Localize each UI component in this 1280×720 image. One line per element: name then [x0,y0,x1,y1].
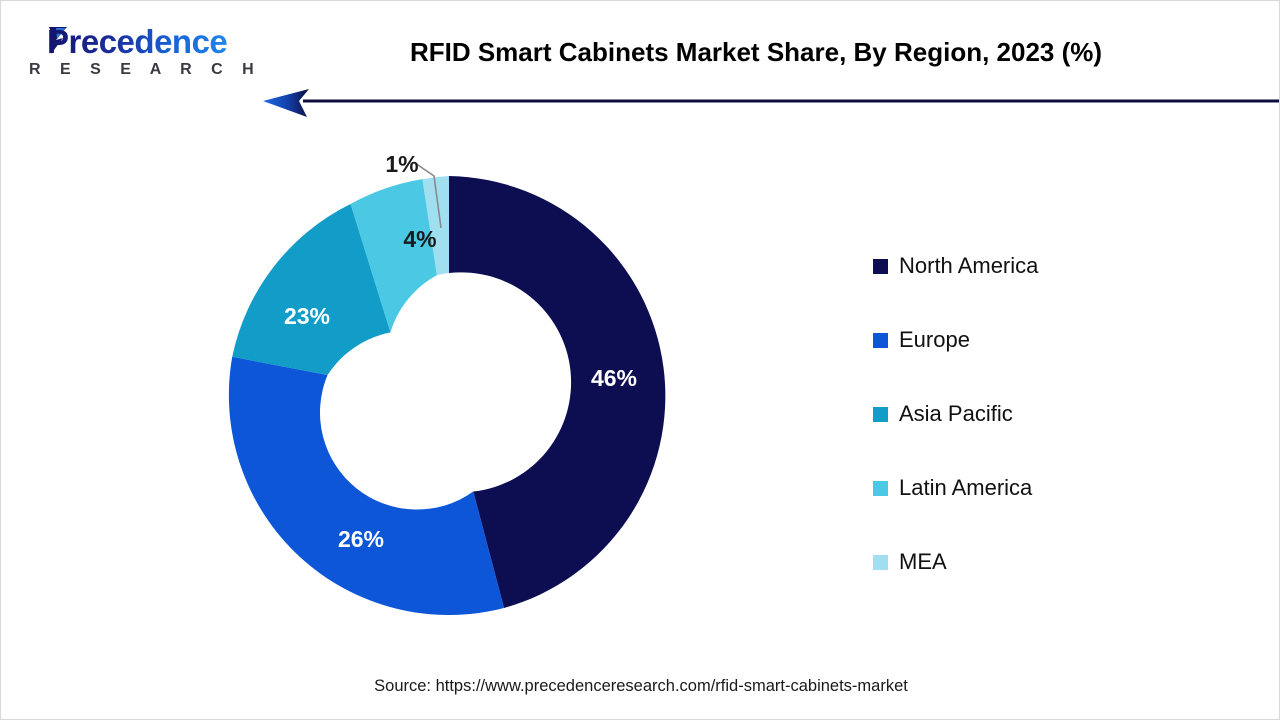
slice-label-europe: 26% [338,526,384,552]
chart-page: Precedence R E S E A R C H RFID Smart Ca… [0,0,1280,720]
header-rule-line [303,100,1280,103]
legend-swatch-north-america [873,259,888,274]
donut-chart: 46% 26% 23% 4% 1% [219,146,689,646]
slice-label-mea: 1% [385,151,418,177]
legend-swatch-europe [873,333,888,348]
logo-wordmark: Precedence [47,23,227,61]
legend-label-europe: Europe [899,328,970,352]
pie-slice-europe [229,357,504,615]
legend-swatch-mea [873,555,888,570]
slice-label-latin-america: 4% [403,226,436,252]
chart-legend: North America Europe Asia Pacific Latin … [873,229,1193,599]
logo-subtitle: R E S E A R C H [29,61,261,79]
legend-item-europe[interactable]: Europe [873,303,1193,377]
source-text: Source: https://www.precedenceresearch.c… [1,677,1280,696]
legend-item-mea[interactable]: MEA [873,525,1193,599]
legend-label-north-america: North America [899,254,1038,278]
legend-item-latin-america[interactable]: Latin America [873,451,1193,525]
legend-swatch-latin-america [873,481,888,496]
slice-label-north-america: 46% [591,365,637,391]
legend-swatch-asia-pacific [873,407,888,422]
legend-label-asia-pacific: Asia Pacific [899,402,1013,426]
arrow-left-icon [263,89,309,117]
legend-item-asia-pacific[interactable]: Asia Pacific [873,377,1193,451]
legend-label-mea: MEA [899,550,947,574]
page-title: RFID Smart Cabinets Market Share, By Reg… [251,37,1261,68]
legend-label-latin-america: Latin America [899,476,1032,500]
slice-label-asia-pacific: 23% [284,303,330,329]
precedence-research-logo: Precedence R E S E A R C H [25,23,255,85]
legend-item-north-america[interactable]: North America [873,229,1193,303]
header-arrow-rule [263,85,1280,119]
